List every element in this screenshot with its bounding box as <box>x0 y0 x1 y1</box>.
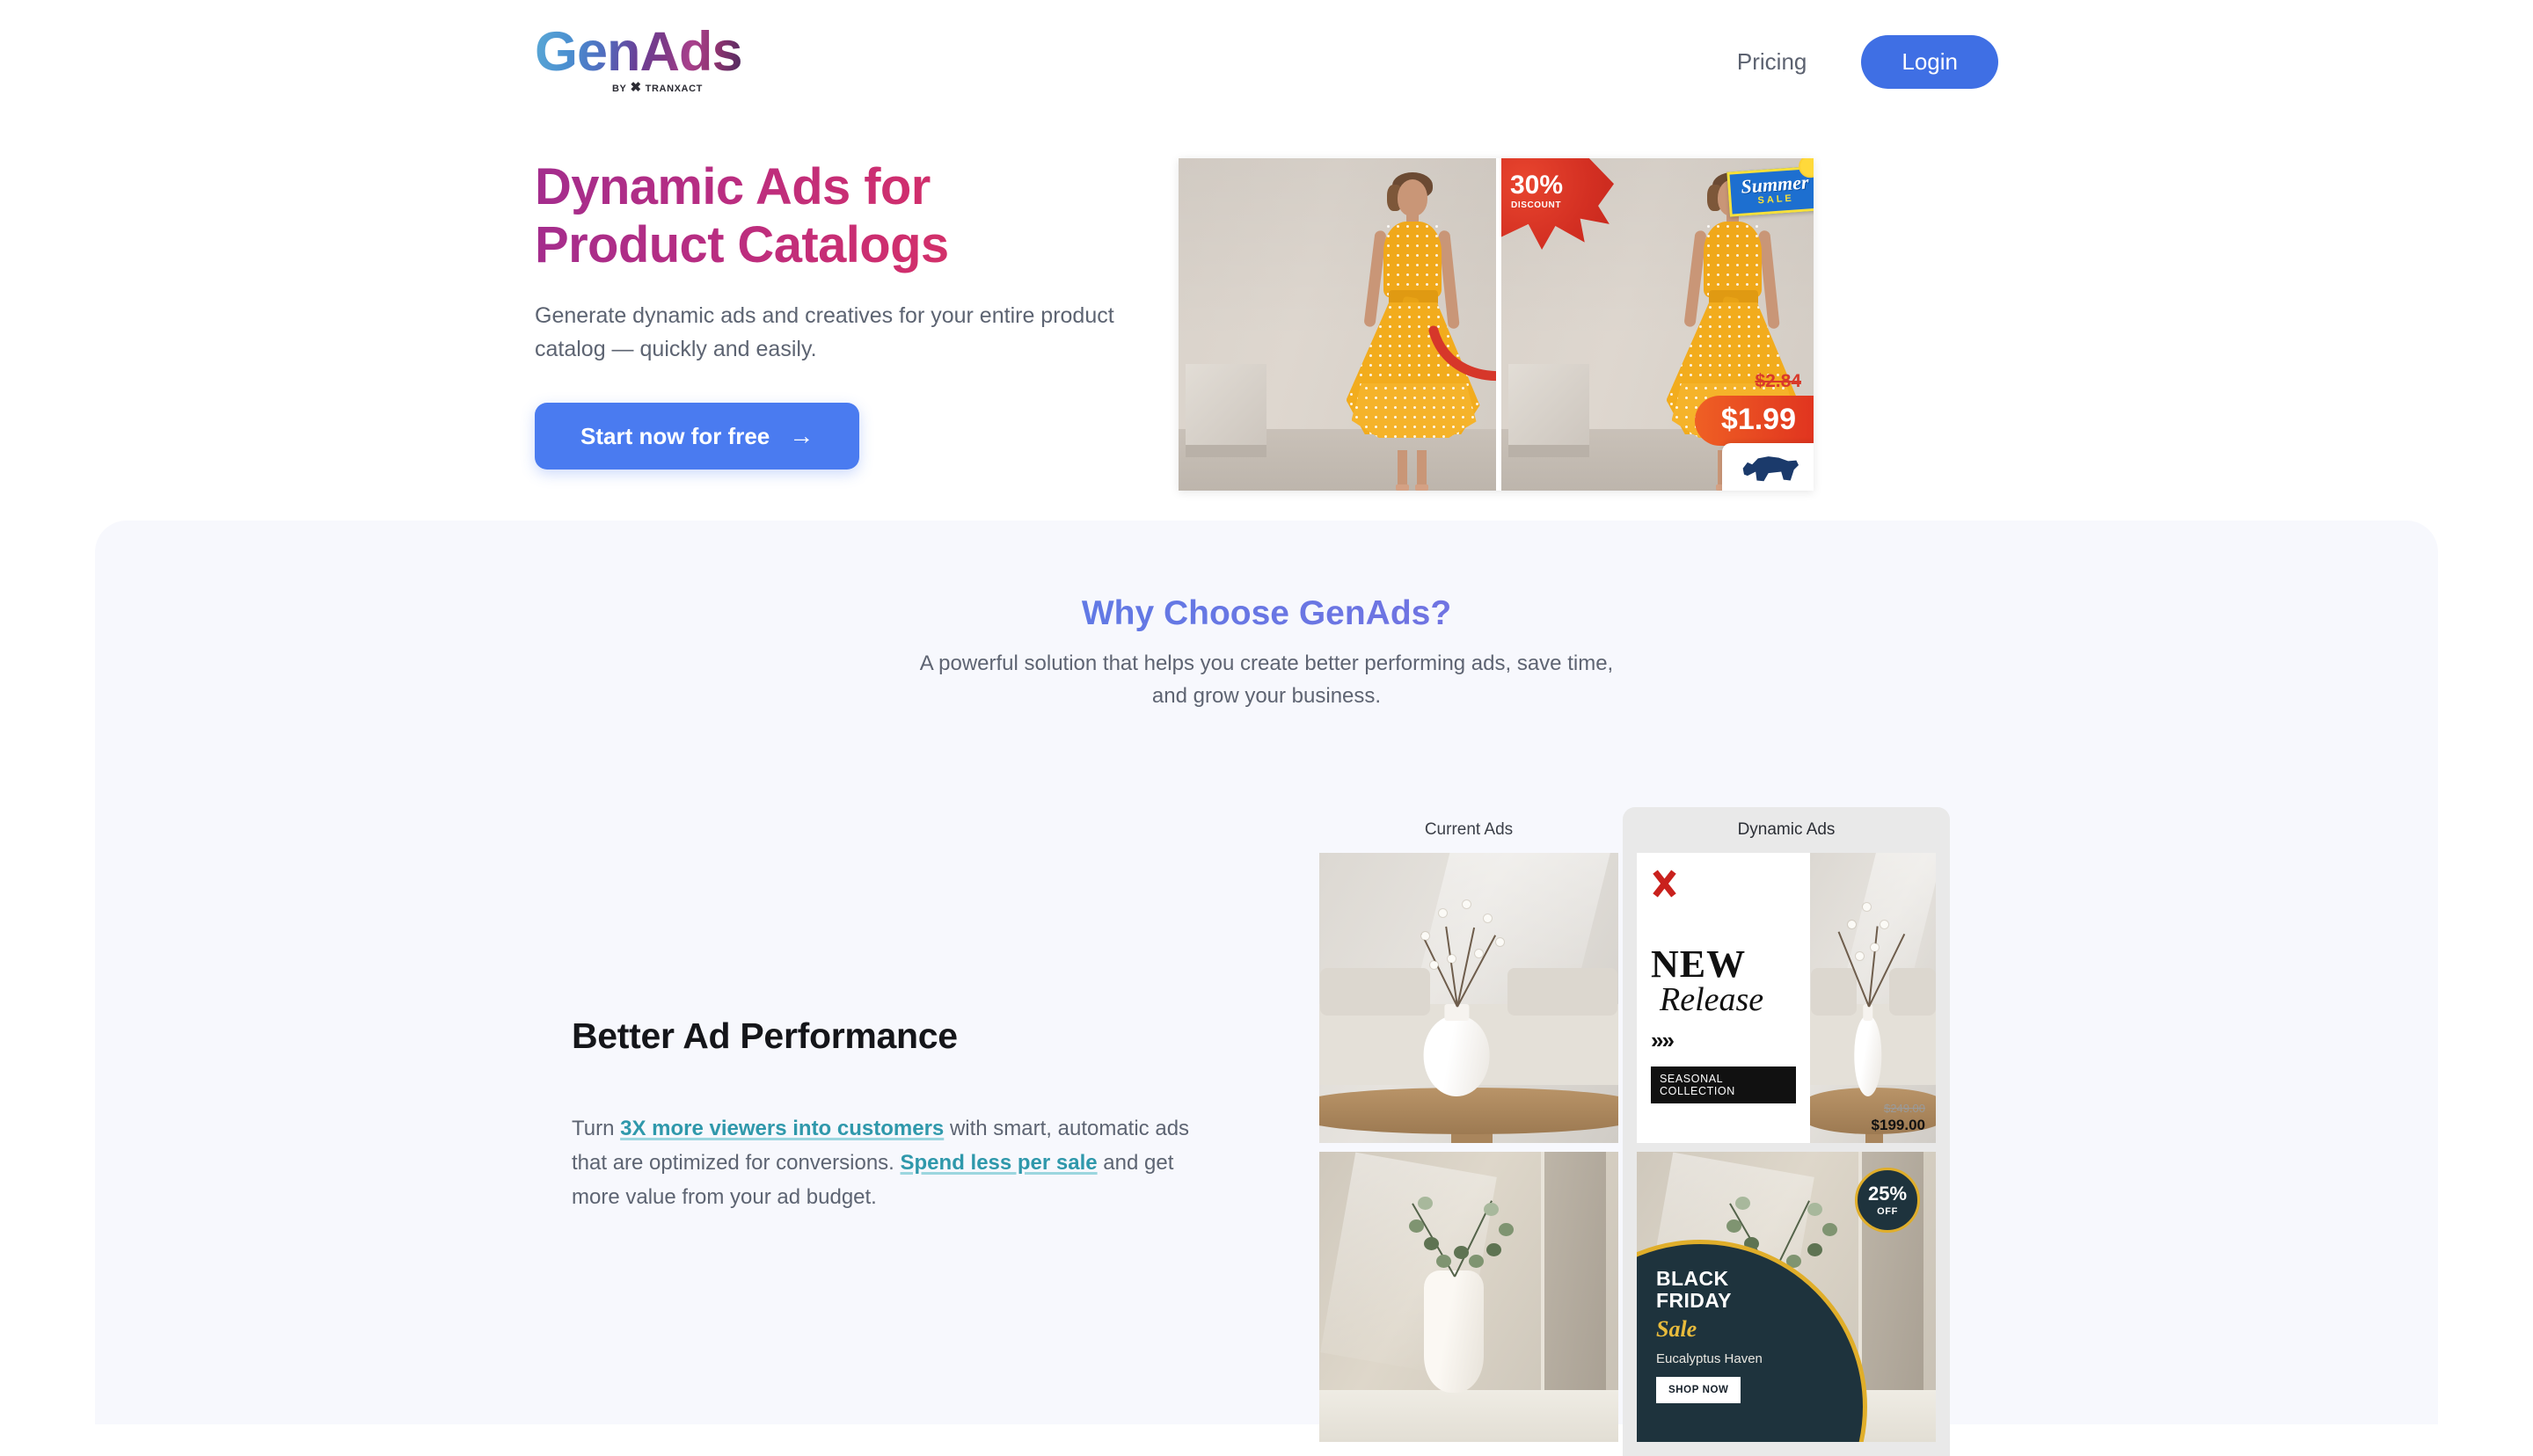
hero-heading: Dynamic Ads for Product Catalogs <box>535 158 1168 274</box>
feature-link-3x-more-viewers[interactable]: 3X more viewers into customers <box>620 1117 944 1140</box>
dynamic-ads-panel: Dynamic Ads NEW Release »» SEASONAL COLL… <box>1623 807 1950 1456</box>
logo-byline-brand: TRANXACT <box>646 84 703 94</box>
arrow-right-icon: → <box>789 422 814 450</box>
new-release-title: NEW <box>1651 946 1796 983</box>
ads-comparison: Current Ads <box>1319 807 1950 1456</box>
tranxact-mark-icon: ✖ <box>630 81 641 94</box>
model-in-yellow-dress <box>1329 179 1496 461</box>
why-section-subtitle: A powerful solution that helps you creat… <box>915 647 1618 712</box>
floor <box>1319 1390 1618 1442</box>
summer-badge-word: Summer <box>1741 172 1809 196</box>
feature-body: Turn 3X more viewers into customers with… <box>572 1112 1224 1215</box>
seasonal-collection-badge: SEASONAL COLLECTION <box>1651 1067 1796 1103</box>
current-ads-label: Current Ads <box>1319 807 1618 853</box>
logo-text: GenAds <box>535 25 742 80</box>
model-dress-top <box>1704 222 1762 297</box>
why-section-title: Why Choose GenAds? <box>95 594 2438 633</box>
black-friday-sale-script: Sale <box>1656 1316 1814 1343</box>
summer-sale-badge: Summer SALE <box>1726 165 1814 217</box>
hero-heading-line1: Dynamic Ads for <box>535 158 931 215</box>
dynamic-ads-label: Dynamic Ads <box>1637 807 1936 853</box>
hero-ad-comparison-image: 30% DISCOUNT Summer SALE $2.84 $1.99 <box>1179 158 1814 491</box>
model-head <box>1398 179 1427 216</box>
cta-label: Start now for free <box>580 423 770 450</box>
new-release-script: Release <box>1660 983 1796 1016</box>
brand-logo-chip <box>1722 443 1814 491</box>
hero-ad-before <box>1179 158 1496 491</box>
hero-heading-line2: Product Catalogs <box>535 216 949 273</box>
logo[interactable]: GenAds BY ✖ TRANXACT <box>535 25 742 95</box>
logo-byline-by: BY <box>612 84 626 94</box>
current-ad-2-image <box>1319 1152 1618 1442</box>
model-dress-top <box>1383 222 1442 297</box>
black-friday-product-name: Eucalyptus Haven <box>1656 1351 1814 1366</box>
dynamic-ad-new-release[interactable]: NEW Release »» SEASONAL COLLECTION <box>1637 853 1936 1143</box>
table-top <box>1319 1088 1618 1134</box>
x-mark-logo-icon <box>1651 869 1677 897</box>
login-button[interactable]: Login <box>1861 35 1998 89</box>
chevrons-icon: »» <box>1651 1027 1796 1054</box>
start-now-for-free-button[interactable]: Start now for free → <box>535 403 859 470</box>
dynamic-ad-black-friday[interactable]: BLACKFRIDAY Sale Eucalyptus Haven SHOP N… <box>1637 1152 1936 1442</box>
new-release-text-panel: NEW Release »» SEASONAL COLLECTION <box>1637 853 1810 1143</box>
feature-title: Better Ad Performance <box>572 1016 958 1057</box>
black-friday-text: BLACKFRIDAY Sale Eucalyptus Haven SHOP N… <box>1656 1268 1814 1404</box>
hero-ad-after: 30% DISCOUNT Summer SALE $2.84 $1.99 <box>1496 158 1814 491</box>
logo-byline: BY ✖ TRANXACT <box>612 82 703 95</box>
price-original: $2.84 <box>1755 371 1801 392</box>
white-vase <box>1424 1016 1490 1096</box>
hero-section: Dynamic Ads for Product Catalogs Generat… <box>0 130 2533 521</box>
discount-badge: 30% DISCOUNT <box>1501 158 1614 250</box>
discount-percent: 25% <box>1868 1184 1907 1204</box>
photo-pedestal <box>1508 364 1589 445</box>
main-nav: Pricing Login <box>1737 35 1998 89</box>
nav-item-pricing[interactable]: Pricing <box>1737 48 1807 76</box>
discount-label: OFF <box>1877 1206 1898 1217</box>
price-discounted: $1.99 <box>1695 396 1814 446</box>
white-vase <box>1424 1270 1484 1393</box>
model-dress-hem <box>1352 383 1477 438</box>
model-shoe-right <box>1415 484 1428 491</box>
feature-body-prefix: Turn <box>572 1117 620 1140</box>
price-discounted: $199.00 <box>1872 1117 1925 1134</box>
black-friday-discount-badge: 25% OFF <box>1855 1168 1920 1233</box>
discount-percent: 30% <box>1510 172 1563 199</box>
current-ad-1-image <box>1319 853 1618 1143</box>
price-original: $249.00 <box>1872 1102 1925 1115</box>
shop-now-button[interactable]: SHOP NOW <box>1656 1377 1741 1403</box>
model-leg-right <box>1417 450 1427 487</box>
hero-subtext: Generate dynamic ads and creatives for y… <box>535 299 1150 366</box>
model-shoe-left <box>1396 484 1409 491</box>
why-choose-section: Why Choose GenAds? A powerful solution t… <box>95 521 2438 1424</box>
bear-logo-icon <box>1741 451 1799 484</box>
site-header: GenAds BY ✖ TRANXACT Pricing Login <box>0 0 2533 130</box>
new-release-prices: $249.00 $199.00 <box>1872 1102 1925 1134</box>
model-leg-left <box>1398 450 1407 487</box>
feature-link-spend-less-per-sale[interactable]: Spend less per sale <box>901 1151 1098 1175</box>
black-friday-headline: BLACKFRIDAY <box>1656 1268 1814 1314</box>
photo-pedestal <box>1186 364 1266 445</box>
new-release-product-image <box>1810 853 1936 1143</box>
current-ads-panel: Current Ads <box>1319 807 1618 1451</box>
hero-copy: Dynamic Ads for Product Catalogs Generat… <box>535 158 1168 470</box>
discount-label: DISCOUNT <box>1511 200 1561 210</box>
